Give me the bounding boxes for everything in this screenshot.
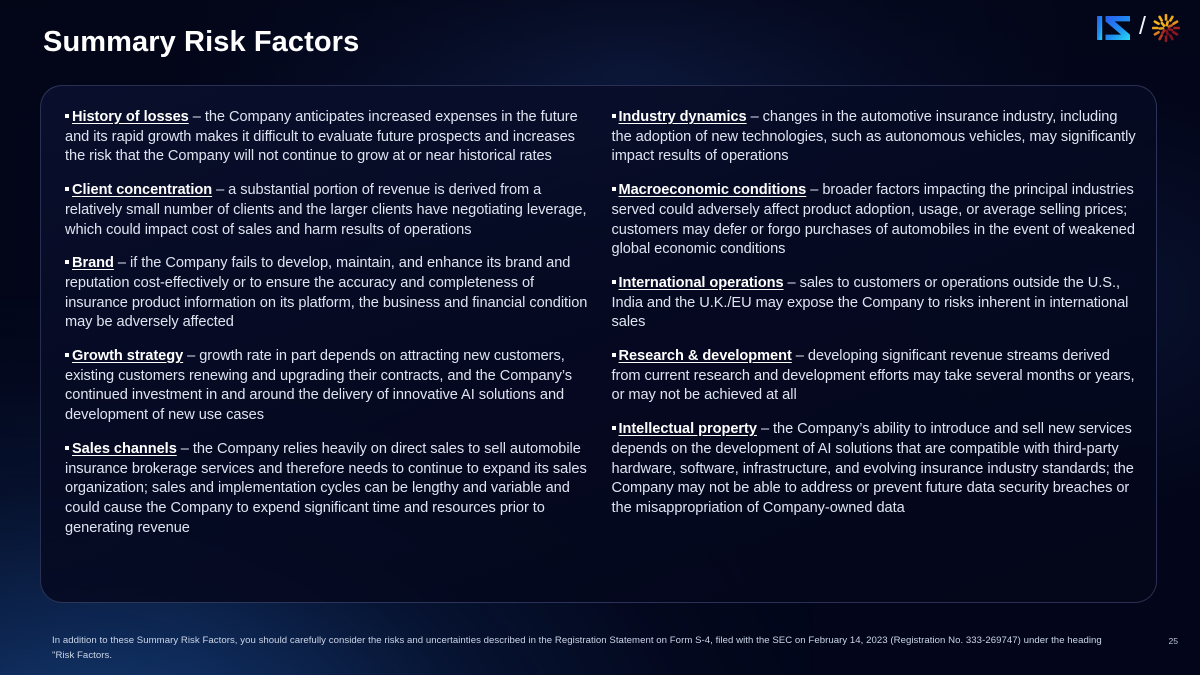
risk-item: Research & development – developing sign… [612, 347, 1137, 406]
risk-lead: Research & development [619, 348, 792, 364]
brand-logo: / [1095, 12, 1182, 44]
risk-columns: History of losses – the Company anticipa… [41, 86, 1156, 602]
risk-lead: Intellectual property [619, 421, 757, 437]
bullet-icon [65, 260, 69, 264]
bullet-icon [65, 446, 69, 450]
rz-logo-mark-icon [1095, 12, 1135, 44]
risk-item: Intellectual property – the Company’s ab… [612, 420, 1137, 519]
bullet-icon [612, 426, 616, 430]
bullet-icon [612, 280, 616, 284]
risk-factors-card: History of losses – the Company anticipa… [40, 85, 1157, 603]
risk-lead: Client concentration [72, 182, 212, 198]
sunburst-icon [1150, 12, 1182, 44]
risk-item: Industry dynamics – changes in the autom… [612, 108, 1137, 167]
risk-item: Client concentration – a substantial por… [65, 181, 591, 240]
page-number: 25 [1168, 636, 1178, 646]
risk-lead: Growth strategy [72, 348, 183, 364]
risk-lead: History of losses [72, 109, 189, 125]
footer-disclaimer: In addition to these Summary Risk Factor… [52, 634, 1112, 663]
risk-item: Macroeconomic conditions – broader facto… [612, 181, 1137, 260]
risk-lead: Sales channels [72, 441, 177, 457]
slide-root: Summary Risk Factors / [0, 0, 1200, 675]
bullet-icon [65, 353, 69, 357]
risk-item: Sales channels – the Company relies heav… [65, 440, 591, 539]
risk-item: International operations – sales to cust… [612, 274, 1137, 333]
risk-column-right: Industry dynamics – changes in the autom… [603, 108, 1141, 586]
logo-separator-slash: / [1139, 14, 1146, 39]
risk-lead: Industry dynamics [619, 109, 747, 125]
risk-lead: Macroeconomic conditions [619, 182, 807, 198]
bullet-icon [612, 353, 616, 357]
bullet-icon [612, 187, 616, 191]
risk-body: – if the Company fails to develop, maint… [65, 255, 587, 330]
bullet-icon [65, 187, 69, 191]
risk-item: History of losses – the Company anticipa… [65, 108, 591, 167]
page-title: Summary Risk Factors [43, 26, 359, 59]
bullet-icon [65, 114, 69, 118]
risk-item: Growth strategy – growth rate in part de… [65, 347, 591, 426]
risk-lead: Brand [72, 255, 114, 271]
bullet-icon [612, 114, 616, 118]
risk-lead: International operations [619, 275, 784, 291]
risk-item: Brand – if the Company fails to develop,… [65, 254, 591, 333]
risk-column-left: History of losses – the Company anticipa… [65, 108, 603, 586]
